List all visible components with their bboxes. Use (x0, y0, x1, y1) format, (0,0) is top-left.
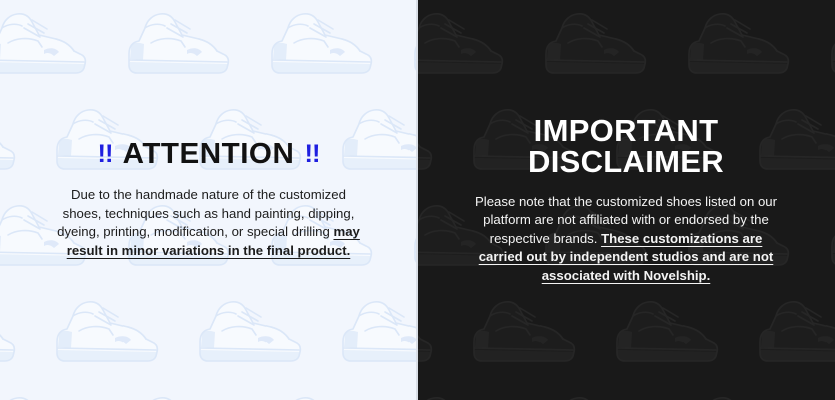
disclaimer-heading-line-2: DISCLAIMER (435, 146, 817, 177)
panel-divider (416, 0, 418, 400)
attention-body-text: Due to the handmade nature of the custom… (56, 186, 362, 260)
customization-notice-banner: !!ATTENTION!! Due to the handmade nature… (0, 0, 835, 400)
attention-body-normal: Due to the handmade nature of the custom… (57, 187, 354, 239)
double-exclamation-icon-left: !! (98, 140, 113, 168)
disclaimer-heading-line-1: IMPORTANT (435, 115, 817, 146)
disclaimer-heading: IMPORTANT DISCLAIMER (435, 115, 817, 177)
double-exclamation-icon-right: !! (305, 140, 320, 168)
attention-heading-text: ATTENTION (123, 138, 295, 170)
disclaimer-body-text: Please note that the customized shoes li… (468, 193, 784, 286)
disclaimer-panel: IMPORTANT DISCLAIMER Please note that th… (417, 0, 835, 400)
disclaimer-content: IMPORTANT DISCLAIMER Please note that th… (417, 115, 835, 286)
attention-content: !!ATTENTION!! Due to the handmade nature… (0, 140, 417, 260)
attention-panel: !!ATTENTION!! Due to the handmade nature… (0, 0, 417, 400)
attention-heading: !!ATTENTION!! (14, 140, 403, 169)
